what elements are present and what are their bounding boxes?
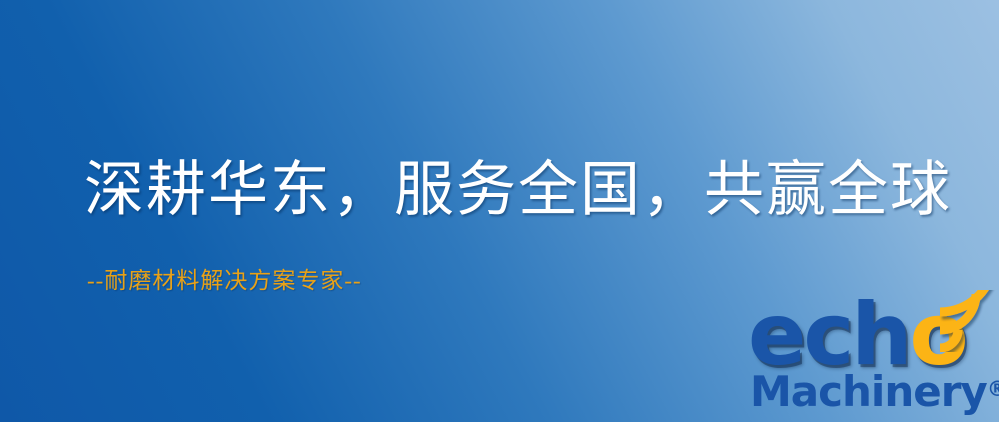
banner-headline: 深耕华东，服务全国，共赢全球	[84, 154, 952, 226]
registered-trademark-icon: ®	[987, 377, 999, 401]
banner-subtitle: --耐磨材料解决方案专家--	[87, 266, 362, 296]
signal-waves-icon	[934, 290, 999, 352]
company-logo: echo Machinery®	[744, 292, 999, 422]
promo-banner: 深耕华东，服务全国，共赢全球 --耐磨材料解决方案专家-- echo Machi…	[0, 0, 999, 422]
logo-tagline: Machinery®	[750, 366, 999, 415]
logo-tagline-text: Machinery	[750, 367, 987, 416]
